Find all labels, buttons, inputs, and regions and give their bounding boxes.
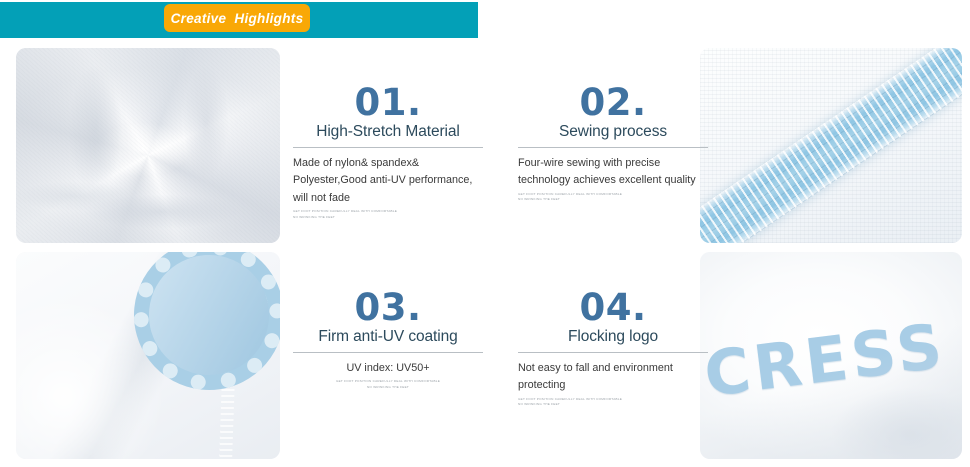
photo-sewing-process <box>700 48 962 243</box>
photo-high-stretch-material <box>16 48 280 243</box>
feature-body: Four-wire sewing with precise technology… <box>518 155 708 190</box>
microtext-line-2: NO WRINKING THE FEET <box>293 215 483 221</box>
feature-microtext: GET FOOT POSITION CAREFULLY DEAL WITH CO… <box>293 379 483 390</box>
fabric-weave-layer <box>16 48 280 243</box>
feature-block-03: 03. Firm anti-UV coating UV index: UV50+… <box>293 289 483 391</box>
logo-shade-layer <box>700 252 962 459</box>
feature-number: 01. <box>293 84 483 122</box>
photo-anti-uv-coating <box>16 252 280 459</box>
feature-block-04: 04. Flocking logo Not easy to fall and e… <box>518 289 708 408</box>
microtext-line-2: NO WRINKING THE FEET <box>293 385 483 391</box>
feature-number: 02. <box>518 84 708 122</box>
feature-block-02: 02. Sewing process Four-wire sewing with… <box>518 84 708 203</box>
feature-number: 03. <box>293 289 483 327</box>
feature-body: Not easy to fall and environment protect… <box>518 360 708 395</box>
feature-microtext: GET FOOT POSITION CAREFULLY DEAL WITH CO… <box>293 209 483 220</box>
feature-title: High-Stretch Material <box>293 123 483 148</box>
feature-body: UV index: UV50+ <box>293 360 483 377</box>
feature-microtext: GET FOOT POSITION CAREFULLY DEAL WITH CO… <box>518 397 708 408</box>
banner-badge: Creative Highlights <box>164 4 310 32</box>
feature-title: Sewing process <box>518 123 708 148</box>
feature-block-01: 01. High-Stretch Material Made of nylon&… <box>293 84 483 221</box>
microtext-line-2: NO WRINKING THE FEET <box>518 402 708 408</box>
feature-title: Firm anti-UV coating <box>293 328 483 353</box>
feature-title: Flocking logo <box>518 328 708 353</box>
photo-flocking-logo: CRESS <box>700 252 962 459</box>
feature-microtext: GET FOOT POSITION CAREFULLY DEAL WITH CO… <box>518 192 708 203</box>
feature-body: Made of nylon& spandex& Polyester,Good a… <box>293 155 483 207</box>
banner-badge-label: Creative Highlights <box>171 11 304 26</box>
feature-number: 04. <box>518 289 708 327</box>
microtext-line-2: NO WRINKING THE FEET <box>518 197 708 203</box>
